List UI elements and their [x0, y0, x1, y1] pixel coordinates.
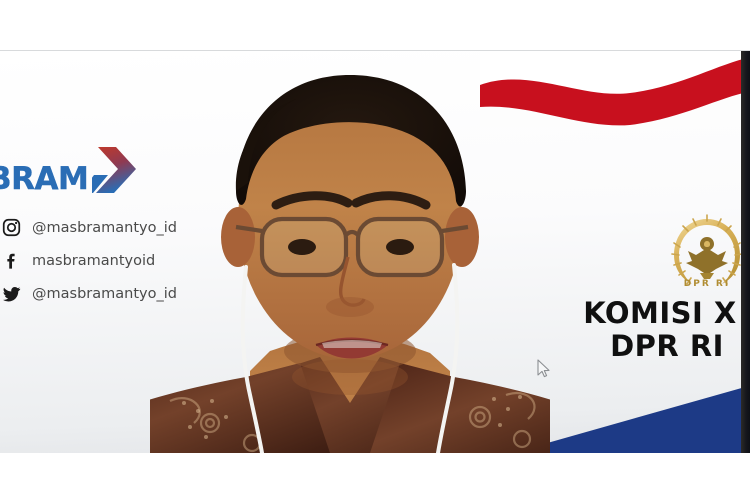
video-frame[interactable]: BRAM — [0, 50, 750, 453]
right-edge-band — [741, 51, 750, 453]
social-handle-twitter: @masbramantyo_id — [32, 286, 177, 302]
svg-text:DPR RI: DPR RI — [684, 279, 730, 289]
instagram-icon — [0, 218, 22, 238]
brand-chevron-icon — [92, 143, 140, 197]
brand-overlay: BRAM — [0, 159, 198, 313]
brand-wordmark: BRAM — [0, 161, 88, 197]
list-item[interactable]: @masbramantyo_id — [0, 280, 198, 307]
caption-line-1: KOMISI X — [560, 297, 750, 330]
twitter-icon — [0, 284, 22, 304]
facebook-icon — [0, 251, 22, 271]
dpr-ri-emblem-icon: DPR RI — [666, 211, 748, 295]
caption-text: KOMISI X DPR RI — [560, 297, 750, 363]
list-item[interactable]: @masbramantyo_id — [0, 214, 198, 241]
social-handles-list: @masbramantyo_id masbramantyoid — [0, 214, 198, 307]
mouse-cursor-arrow-icon — [537, 359, 551, 378]
social-handle-facebook: masbramantyoid — [32, 253, 155, 269]
caption-line-2: DPR RI — [574, 330, 750, 363]
social-handle-instagram: @masbramantyo_id — [32, 220, 177, 236]
list-item[interactable]: masbramantyoid — [0, 247, 198, 274]
screenshot-root: BRAM — [0, 0, 750, 500]
brand-logo: BRAM — [0, 159, 198, 201]
video-subject — [150, 51, 550, 453]
